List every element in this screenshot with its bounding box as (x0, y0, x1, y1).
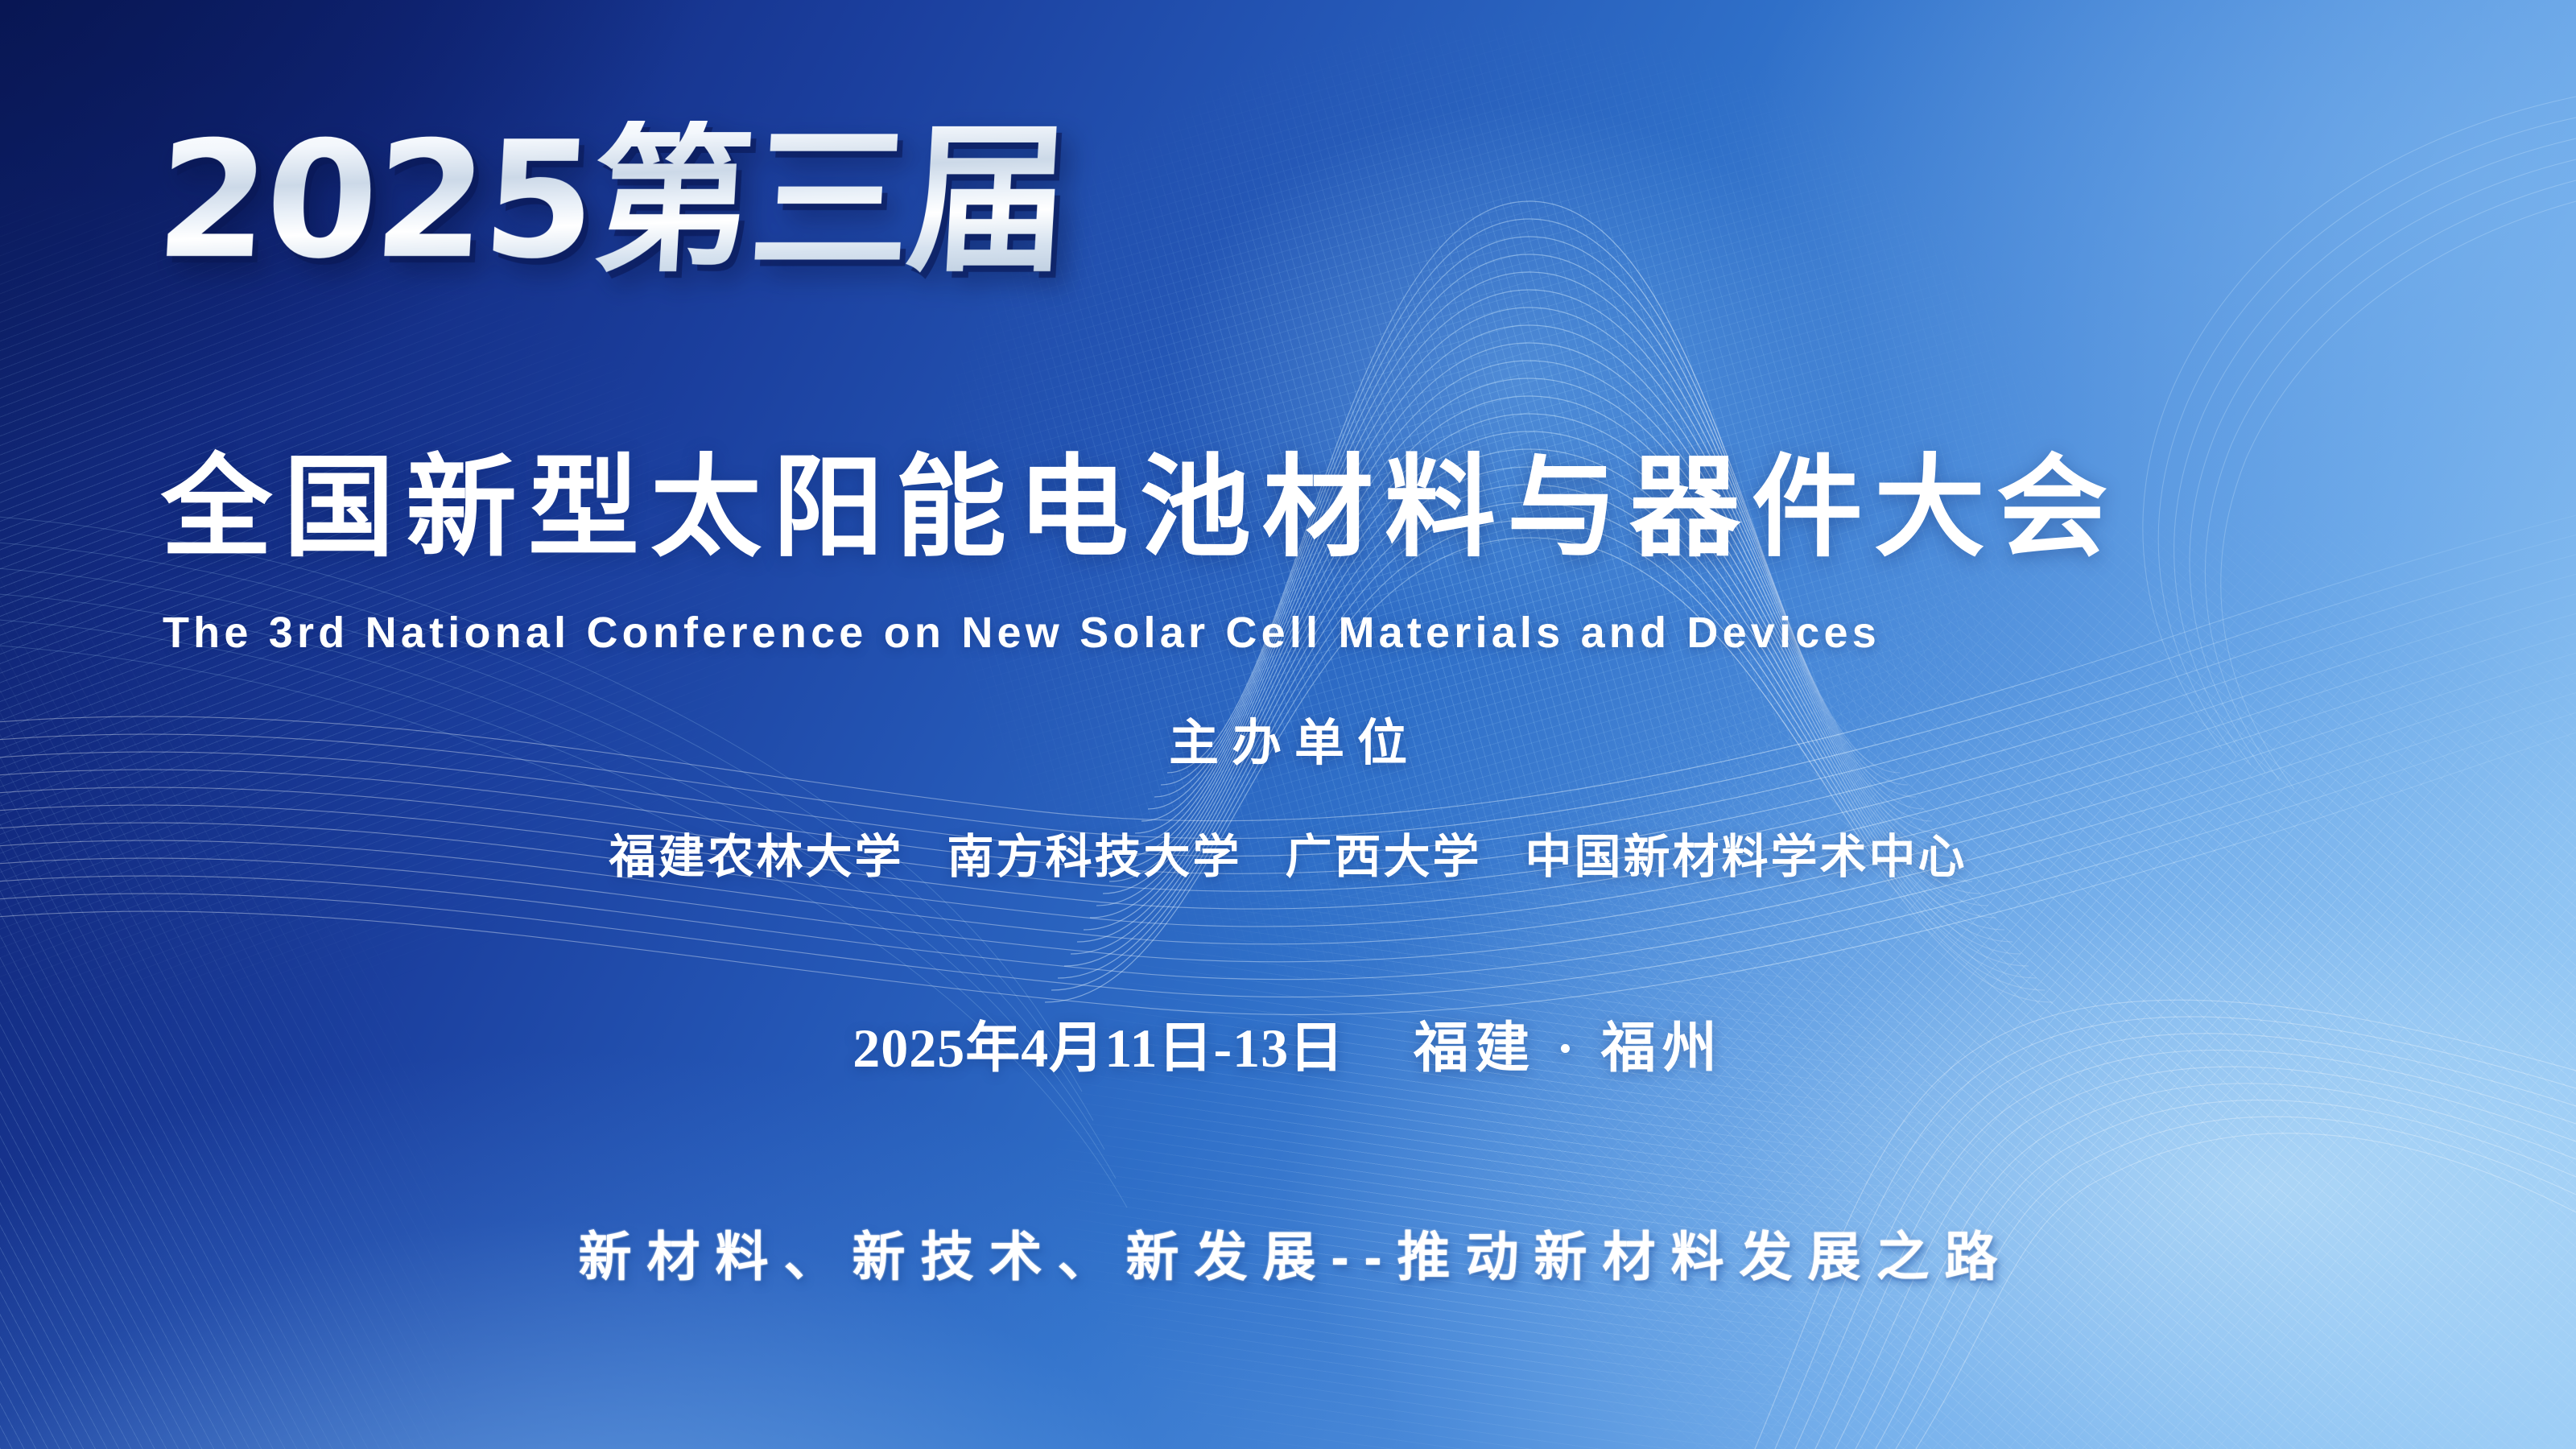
date-location-row: 2025年4月11日-13日 福建 · 福州 (0, 1016, 2576, 1082)
conference-poster: 2025第三届 全国新型太阳能电池材料与器件大会 The 3rd Nationa… (0, 0, 2576, 1449)
page-subtitle-english: The 3rd National Conference on New Solar… (163, 608, 2417, 658)
headline-year-edition: 2025第三届 (152, 121, 1070, 282)
host-organisation-list: 福建农林大学 南方科技大学 广西大学 中国新材料学术中心 (0, 829, 2576, 885)
host-section-label: 主办单位 (0, 716, 2576, 771)
host-organisation-item: 广西大学 (1286, 829, 1482, 885)
conference-slogan: 新材料、新技术、新发展--推动新材料发展之路 (0, 1225, 2576, 1289)
conference-date: 2025年4月11日-13日 (852, 1016, 1344, 1082)
conference-location: 福建 · 福州 (1414, 1016, 1724, 1082)
page-title: 全国新型太阳能电池材料与器件大会 (161, 446, 2423, 571)
host-organisation-item: 中国新材料学术中心 (1525, 829, 1967, 885)
host-organisation-item: 南方科技大学 (947, 829, 1241, 885)
host-organisation-item: 福建农林大学 (609, 829, 903, 885)
